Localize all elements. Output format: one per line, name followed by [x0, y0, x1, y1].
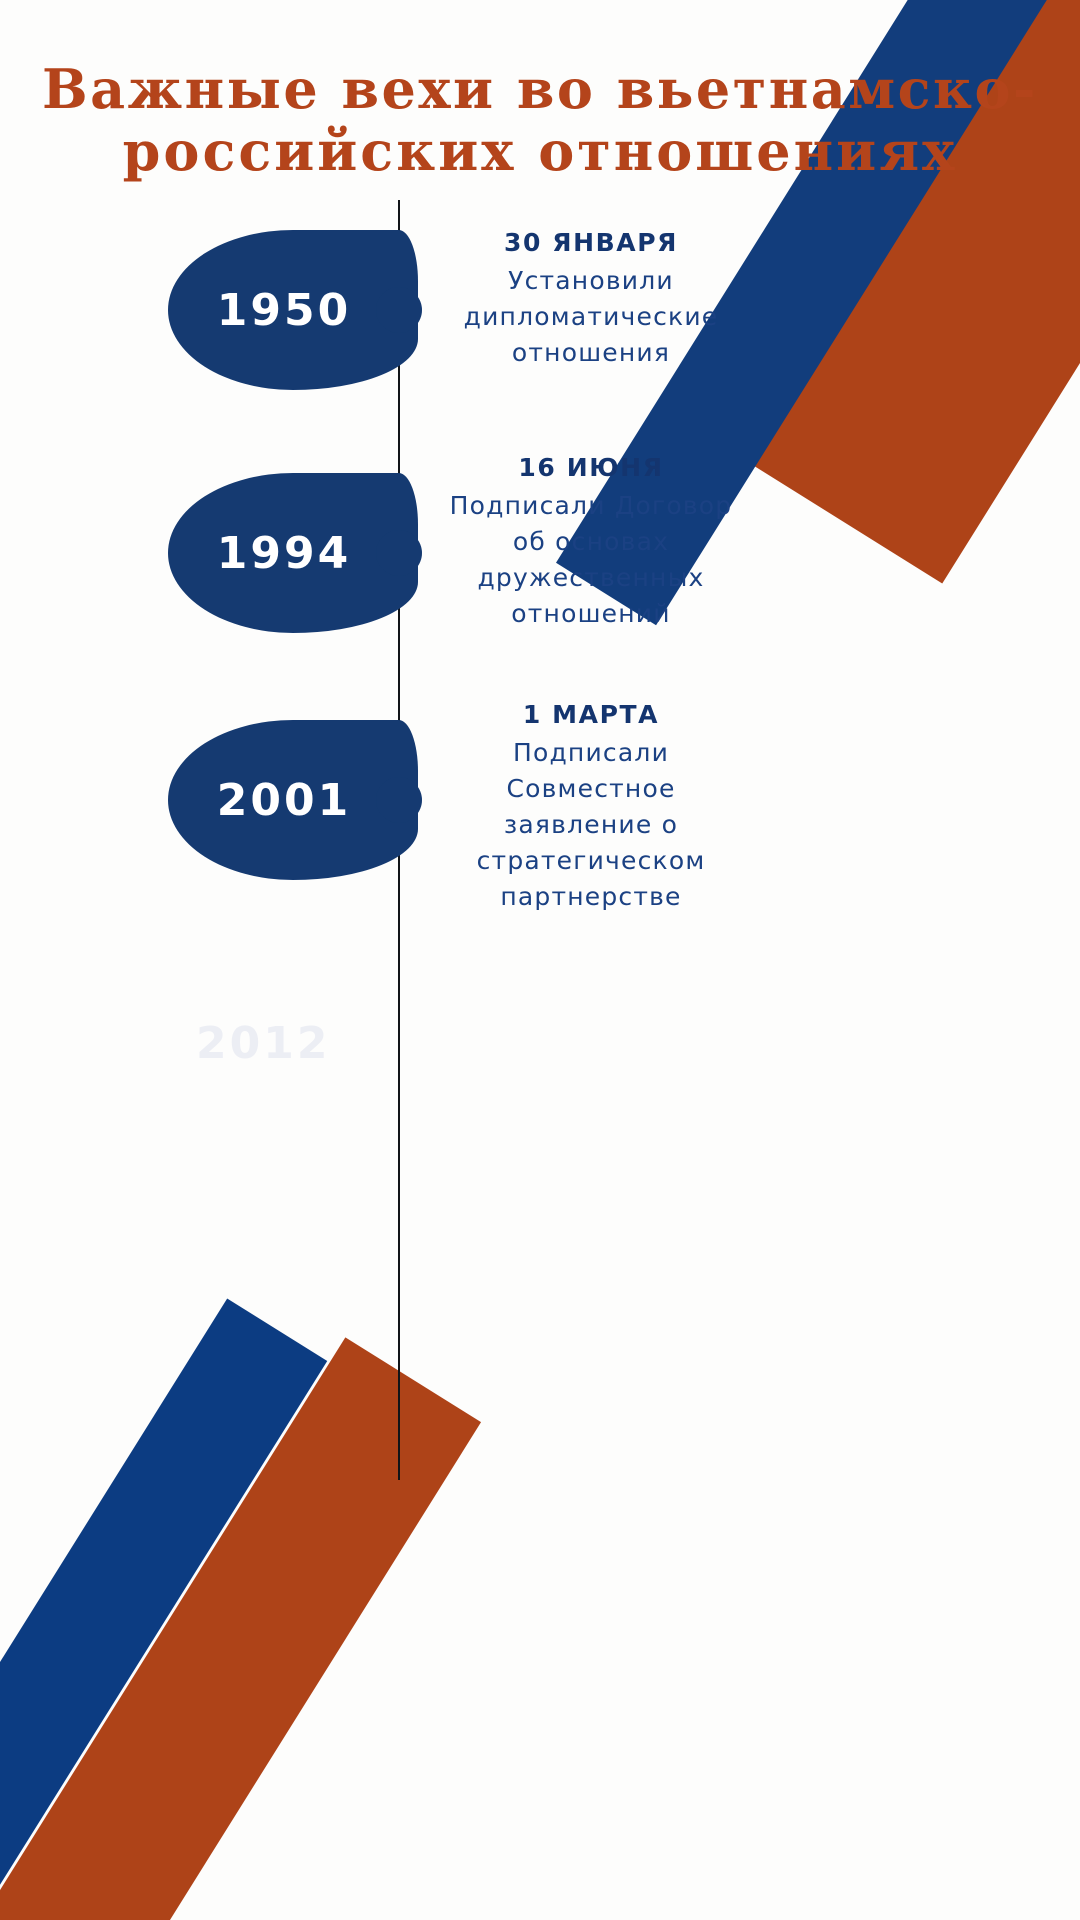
entry-text-block: 1 МАРТА Подписали Совместное заявление о… — [436, 700, 746, 915]
ghost-year-watermark: 2012 — [196, 1018, 330, 1069]
timeline-node-dot — [376, 287, 422, 333]
page-title-line-1: Важные вехи во вьетнамско- — [0, 58, 1080, 120]
timeline-node-dot — [376, 777, 422, 823]
entry-description: Установили дипломатические отношения — [436, 263, 746, 371]
page-title: Важные вехи во вьетнамско- российских от… — [0, 58, 1080, 182]
entry-date: 1 МАРТА — [436, 700, 746, 729]
timeline-node-dot — [376, 530, 422, 576]
bottom-left-navy-stripe — [0, 1299, 327, 1920]
entry-description: Подписали Договор об основах дружественн… — [436, 488, 746, 632]
entry-date: 16 ИЮНЯ — [436, 453, 746, 482]
bottom-left-rust-stripe — [0, 1337, 481, 1920]
entry-date: 30 ЯНВАРЯ — [436, 228, 746, 257]
entry-description: Подписали Совместное заявление о стратег… — [436, 735, 746, 915]
entry-text-block: 16 ИЮНЯ Подписали Договор об основах дру… — [436, 453, 746, 632]
entry-text-block: 30 ЯНВАРЯ Установили дипломатические отн… — [436, 228, 746, 371]
page-title-line-2: российских отношениях — [0, 120, 1080, 182]
